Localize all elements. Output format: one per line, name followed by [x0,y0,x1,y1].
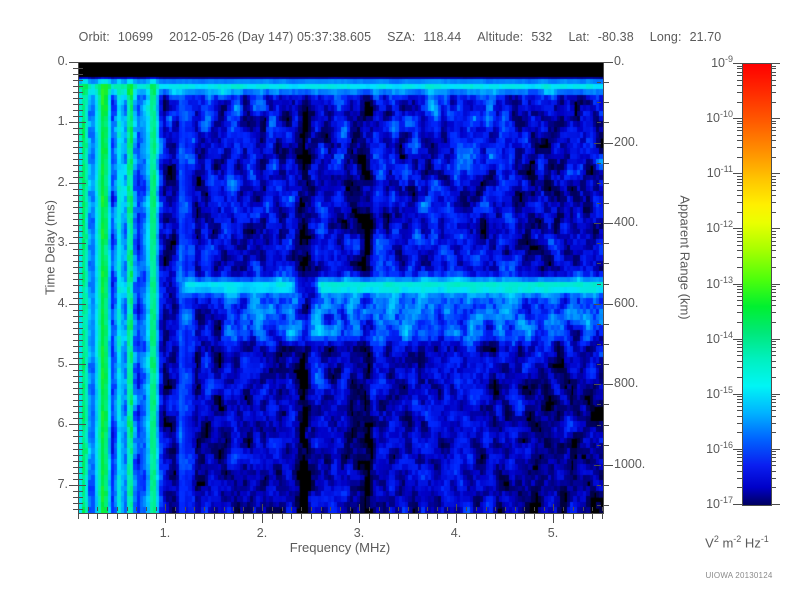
y-axis-minor-tick [73,98,78,99]
y-axis-inner-tick [79,128,83,129]
y-axis-minor-tick [73,68,78,69]
x-axis-inner-tick [185,507,186,511]
x-axis-inner-tick [505,507,506,511]
y-axis-minor-tick [73,340,78,341]
colorbar-minor-tick-right [771,130,776,131]
altitude-label: Altitude: [477,30,523,44]
y-axis-right-minor-tick [604,364,609,365]
y-axis-minor-tick [73,298,78,299]
colorbar-major-tick-right [771,449,780,450]
y-axis-inner-tick [79,273,83,274]
colorbar-tick-label-7: 10-16 [667,440,733,456]
y-axis-inner-tick [79,310,83,311]
y-axis-left-tick-label-2: 2. [8,175,68,189]
colorbar-major-tick-right [771,394,780,395]
y-axis-inner-tick [79,503,83,504]
y-axis-inner-tick [79,207,83,208]
x-axis-minor-tick [330,514,331,519]
y-axis-inner-tick [79,255,83,256]
x-axis-minor-tick [476,514,477,519]
y-axis-inner-tick [79,80,83,81]
colorbar-minor-tick-right [771,410,776,411]
y-axis-left-tick-label-5: 5. [8,356,68,370]
colorbar-minor-tick [737,135,742,136]
colorbar-minor-tick [737,377,742,378]
x-axis-minor-tick [602,514,603,519]
y-axis-inner-tick [79,316,83,317]
y-axis-major-tick [69,424,78,425]
colorbar-minor-tick-right [771,377,776,378]
colorbar-minor-tick [737,347,742,348]
colorbar-minor-tick-right [771,241,776,242]
y-axis-right-inner-tick [597,163,601,164]
y-axis-inner-tick [79,153,83,154]
x-axis-minor-tick [592,514,593,519]
y-axis-minor-tick [73,382,78,383]
y-axis-right-inner-tick [594,465,601,466]
y-axis-inner-tick [79,298,83,299]
x-axis-minor-tick [107,514,108,519]
x-axis-minor-tick [136,514,137,519]
y-axis-left-tick-label-7: 7. [8,477,68,491]
y-axis-minor-tick [73,110,78,111]
x-axis-inner-tick [243,507,244,511]
colorbar-minor-tick-right [771,457,776,458]
colorbar-minor-tick [737,241,742,242]
x-axis-minor-tick [224,514,225,519]
y-axis-right-minor-tick [604,163,609,164]
colorbar-minor-tick-right [771,478,776,479]
y-axis-right-inner-tick [594,384,601,385]
y-axis-right-inner-tick [597,485,601,486]
colorbar-minor-tick [737,361,742,362]
y-axis-minor-tick [73,455,78,456]
x-axis-inner-tick [515,507,516,511]
x-axis-inner-tick [136,507,137,511]
x-axis-minor-tick [486,514,487,519]
y-axis-inner-tick [79,388,83,389]
x-axis-minor-tick [408,514,409,519]
colorbar-minor-tick [737,305,742,306]
y-axis-right-inner-tick [597,505,601,506]
colorbar-tick-label-2: 10-11 [667,164,733,180]
colorbar-major-tick [733,394,742,395]
x-axis-major-tick [456,514,457,523]
colorbar-major-tick-right [771,63,780,64]
y-axis-inner-tick [79,485,86,486]
x-axis-inner-tick [437,507,438,511]
x-axis-minor-tick [204,514,205,519]
colorbar-minor-tick-right [771,123,776,124]
y-axis-right-tick-label-0: 0. [614,54,624,68]
x-axis-inner-tick [253,507,254,511]
y-axis-inner-tick [79,62,86,63]
y-axis-right-inner-tick [594,304,601,305]
colorbar-minor-tick-right [771,182,776,183]
colorbar-minor-tick-right [771,351,776,352]
x-axis-inner-tick [301,507,302,511]
x-axis-inner-tick [573,507,574,511]
colorbar-major-tick [733,63,742,64]
colorbar-minor-tick [737,130,742,131]
colorbar-minor-tick-right [771,176,776,177]
colorbar-minor-tick [737,68,742,69]
x-axis-minor-tick [146,514,147,519]
y-axis-inner-tick [79,436,83,437]
y-axis-left-tick-label-4: 4. [8,296,68,310]
colorbar-major-tick [733,118,742,119]
y-axis-minor-tick [73,195,78,196]
y-axis-inner-tick [79,406,83,407]
y-axis-left-tick-label-6: 6. [8,416,68,430]
x-axis-inner-tick [389,507,390,511]
x-axis-inner-tick [350,507,351,511]
colorbar-major-tick-right [771,339,780,340]
colorbar-minor-tick [737,416,742,417]
y-axis-right-tick-label-3: 600. [614,296,638,310]
x-axis-title: Frequency (MHz) [78,540,602,555]
colorbar-minor-tick [737,296,742,297]
x-axis-inner-tick [78,507,79,511]
y-axis-inner-tick [79,122,86,123]
colorbar-major-tick [733,228,742,229]
y-axis-right-major-tick [604,143,613,144]
colorbar-minor-tick-right [771,135,776,136]
y-axis-inner-tick [79,467,83,468]
y-axis-minor-tick [73,74,78,75]
colorbar-major-tick-right [771,504,780,505]
y-axis-major-tick [69,183,78,184]
colorbar-minor-tick-right [771,341,776,342]
orbit-label: Orbit: [79,30,110,44]
colorbar-tick-label-3: 10-12 [667,219,733,235]
colorbar-minor-tick-right [771,300,776,301]
y-axis-inner-tick [79,183,86,184]
colorbar-minor-tick-right [771,202,776,203]
colorbar-minor-tick-right [771,292,776,293]
y-axis-inner-tick [79,443,83,444]
x-axis-minor-tick [233,514,234,519]
y-axis-right-inner-tick [597,243,601,244]
colorbar-minor-tick [737,406,742,407]
observation-datetime: 2012-05-26 (Day 147) 05:37:38.605 [169,30,371,44]
orbit-value: 10699 [118,30,153,44]
colorbar-major-tick-right [771,173,780,174]
colorbar-minor-tick-right [771,487,776,488]
y-axis-minor-tick [73,461,78,462]
y-axis-minor-tick [73,104,78,105]
y-axis-minor-tick [73,141,78,142]
x-axis-minor-tick [88,514,89,519]
y-axis-minor-tick [73,249,78,250]
y-axis-left-tick-label-3: 3. [8,235,68,249]
x-axis-inner-tick [583,507,584,511]
colorbar-minor-tick [737,92,742,93]
colorbar-tick-label-4: 10-13 [667,275,733,291]
x-axis-inner-tick [97,507,98,511]
y-axis-right-tick-label-1: 200. [614,135,638,149]
y-axis-major-tick [69,364,78,365]
y-axis-inner-tick [79,171,83,172]
x-axis-minor-tick [97,514,98,519]
colorbar-minor-tick [737,195,742,196]
colorbar-minor-tick-right [771,305,776,306]
y-axis-inner-tick [79,243,86,244]
y-axis-right-inner-tick [597,425,601,426]
colorbar-minor-tick [737,267,742,268]
x-axis-inner-tick [107,507,108,511]
colorbar-minor-tick-right [771,432,776,433]
x-axis-inner-tick [282,507,283,511]
x-axis-inner-tick [175,507,176,511]
y-axis-minor-tick [73,153,78,154]
colorbar-minor-tick [737,237,742,238]
y-axis-inner-tick [79,346,83,347]
y-axis-minor-tick [73,171,78,172]
credit-watermark: UIOWA 20130124 [680,571,798,580]
y-axis-minor-tick [73,201,78,202]
x-axis-inner-tick [495,507,496,511]
y-axis-right-minor-tick [604,102,609,103]
x-axis-minor-tick [447,514,448,519]
y-axis-minor-tick [73,267,78,268]
colorbar-minor-tick [737,471,742,472]
colorbar-minor-tick [737,176,742,177]
y-axis-right-minor-tick [604,324,609,325]
colorbar-minor-tick-right [771,344,776,345]
x-axis-minor-tick [427,514,428,519]
y-axis-minor-tick [73,177,78,178]
y-axis-right-minor-tick [604,263,609,264]
y-axis-minor-tick [73,491,78,492]
y-axis-right-inner-tick [597,324,601,325]
colorbar-major-tick-right [771,228,780,229]
colorbar-minor-tick [737,245,742,246]
colorbar-minor-tick-right [771,289,776,290]
x-axis-inner-tick [311,507,312,511]
x-axis-inner-tick [146,507,147,511]
colorbar-minor-tick-right [771,402,776,403]
colorbar-minor-tick [737,478,742,479]
y-axis-inner-tick [79,285,83,286]
x-axis-minor-tick [127,514,128,519]
y-axis-right-inner-tick [594,223,601,224]
colorbar-minor-tick [737,257,742,258]
y-axis-inner-tick [79,400,83,401]
y-axis-right-minor-tick [604,485,609,486]
y-axis-inner-tick [79,213,83,214]
y-axis-inner-tick [79,461,83,462]
colorbar-minor-tick [737,190,742,191]
colorbar-minor-tick [737,185,742,186]
y-axis-minor-tick [73,376,78,377]
x-axis-inner-tick [369,507,370,511]
y-axis-inner-tick [79,261,83,262]
colorbar-minor-tick-right [771,396,776,397]
y-axis-right-inner-tick [597,364,601,365]
x-axis-inner-tick [447,507,448,511]
y-axis-minor-tick [73,497,78,498]
colorbar-gradient [743,64,771,505]
y-axis-inner-tick [79,491,83,492]
colorbar-minor-tick [737,212,742,213]
y-axis-minor-tick [73,310,78,311]
colorbar-minor-tick [737,66,742,67]
x-axis-inner-tick [321,507,322,511]
x-axis-minor-tick [117,514,118,519]
x-axis-inner-tick [127,507,128,511]
x-axis-inner-tick [262,504,263,511]
y-axis-inner-tick [79,479,83,480]
y-axis-minor-tick [73,86,78,87]
y-axis-minor-tick [73,285,78,286]
sza-label: SZA: [387,30,415,44]
x-axis-inner-tick [156,507,157,511]
y-axis-right-major-tick [604,62,613,63]
y-axis-right-minor-tick [604,505,609,506]
y-axis-right-minor-tick [604,344,609,345]
x-axis-inner-tick [88,507,89,511]
colorbar-minor-tick [737,341,742,342]
colorbar-tick-label-8: 10-17 [667,495,733,511]
x-axis-inner-tick [534,507,535,511]
y-axis-minor-tick [73,231,78,232]
y-axis-inner-tick [79,201,83,202]
y-axis-inner-tick [79,74,83,75]
plot-header: Orbit:106992012-05-26 (Day 147) 05:37:38… [0,30,800,44]
x-axis-inner-tick [553,504,554,511]
x-axis-minor-tick [466,514,467,519]
x-axis-major-tick [359,514,360,523]
long-value: 21.70 [690,30,722,44]
y-axis-major-tick [69,485,78,486]
x-axis-minor-tick [379,514,380,519]
colorbar-minor-tick-right [771,361,776,362]
y-axis-inner-tick [79,370,83,371]
colorbar-minor-tick-right [771,322,776,323]
y-axis-right-inner-tick [597,404,601,405]
y-axis-right-inner-tick [597,284,601,285]
y-axis-inner-tick [79,104,83,105]
y-axis-minor-tick [73,273,78,274]
colorbar-minor-tick [737,355,742,356]
x-axis-inner-tick [379,507,380,511]
x-axis-minor-tick [185,514,186,519]
colorbar-minor-tick-right [771,195,776,196]
y-axis-right-minor-tick [604,122,609,123]
y-axis-minor-tick [73,219,78,220]
y-axis-minor-tick [73,134,78,135]
y-axis-minor-tick [73,328,78,329]
x-axis-tick-label-4: 5. [523,526,583,540]
colorbar-minor-tick-right [771,234,776,235]
colorbar-minor-tick-right [771,286,776,287]
colorbar-minor-tick-right [771,454,776,455]
colorbar-minor-tick [737,127,742,128]
colorbar-minor-tick-right [771,461,776,462]
colorbar-minor-tick-right [771,465,776,466]
y-axis-inner-tick [79,177,83,178]
colorbar-minor-tick [737,312,742,313]
y-axis-minor-tick [73,165,78,166]
y-axis-minor-tick [73,503,78,504]
colorbar-minor-tick-right [771,75,776,76]
x-axis-minor-tick [573,514,574,519]
colorbar-minor-tick-right [771,92,776,93]
colorbar-minor-tick [737,454,742,455]
colorbar-minor-tick [737,182,742,183]
y-axis-inner-tick [79,340,83,341]
y-axis-right-minor-tick [604,425,609,426]
y-axis-minor-tick [73,213,78,214]
colorbar-minor-tick [737,202,742,203]
y-axis-minor-tick [73,322,78,323]
y-axis-minor-tick [73,346,78,347]
x-axis-inner-tick [427,507,428,511]
x-axis-minor-tick [272,514,273,519]
x-axis-inner-tick [359,504,360,511]
x-axis-inner-tick [117,507,118,511]
y-axis-inner-tick [79,394,83,395]
colorbar-minor-tick [737,322,742,323]
y-axis-minor-tick [73,316,78,317]
y-axis-inner-tick [79,159,83,160]
x-axis-tick-label-2: 3. [329,526,389,540]
y-axis-right-inner-tick [597,102,601,103]
y-axis-minor-tick [73,352,78,353]
x-axis-major-tick [553,514,554,523]
colorbar-tick-label-6: 10-15 [667,385,733,401]
y-axis-inner-tick [79,165,83,166]
x-axis-inner-tick [340,507,341,511]
y-axis-right-minor-tick [604,445,609,446]
x-axis-minor-tick [515,514,516,519]
colorbar-minor-tick [737,396,742,397]
x-axis-minor-tick [156,514,157,519]
colorbar-minor-tick-right [771,127,776,128]
colorbar-minor-tick [737,410,742,411]
colorbar-minor-tick [737,432,742,433]
y-axis-right-inner-tick [594,62,601,63]
colorbar-minor-tick [737,250,742,251]
x-axis-inner-tick [418,507,419,511]
y-axis-minor-tick [73,394,78,395]
y-axis-minor-tick [73,261,78,262]
x-axis-inner-tick [214,507,215,511]
y-axis-inner-tick [79,86,83,87]
y-axis-minor-tick [73,418,78,419]
x-axis-inner-tick [592,507,593,511]
y-axis-right-tick-label-4: 800. [614,376,638,390]
colorbar-minor-tick [737,157,742,158]
x-axis-inner-tick [524,507,525,511]
y-axis-inner-tick [79,110,83,111]
colorbar-minor-tick-right [771,406,776,407]
x-axis-inner-tick [165,504,166,511]
y-axis-minor-tick [73,92,78,93]
x-axis-inner-tick [330,507,331,511]
y-axis-minor-tick [73,207,78,208]
x-axis-minor-tick [282,514,283,519]
y-axis-minor-tick [73,430,78,431]
y-axis-right-major-tick [604,304,613,305]
y-axis-minor-tick [73,116,78,117]
y-axis-minor-tick [73,436,78,437]
y-axis-minor-tick [73,159,78,160]
colorbar-minor-tick [737,147,742,148]
y-axis-right-major-tick [604,384,613,385]
colorbar-minor-tick [737,300,742,301]
